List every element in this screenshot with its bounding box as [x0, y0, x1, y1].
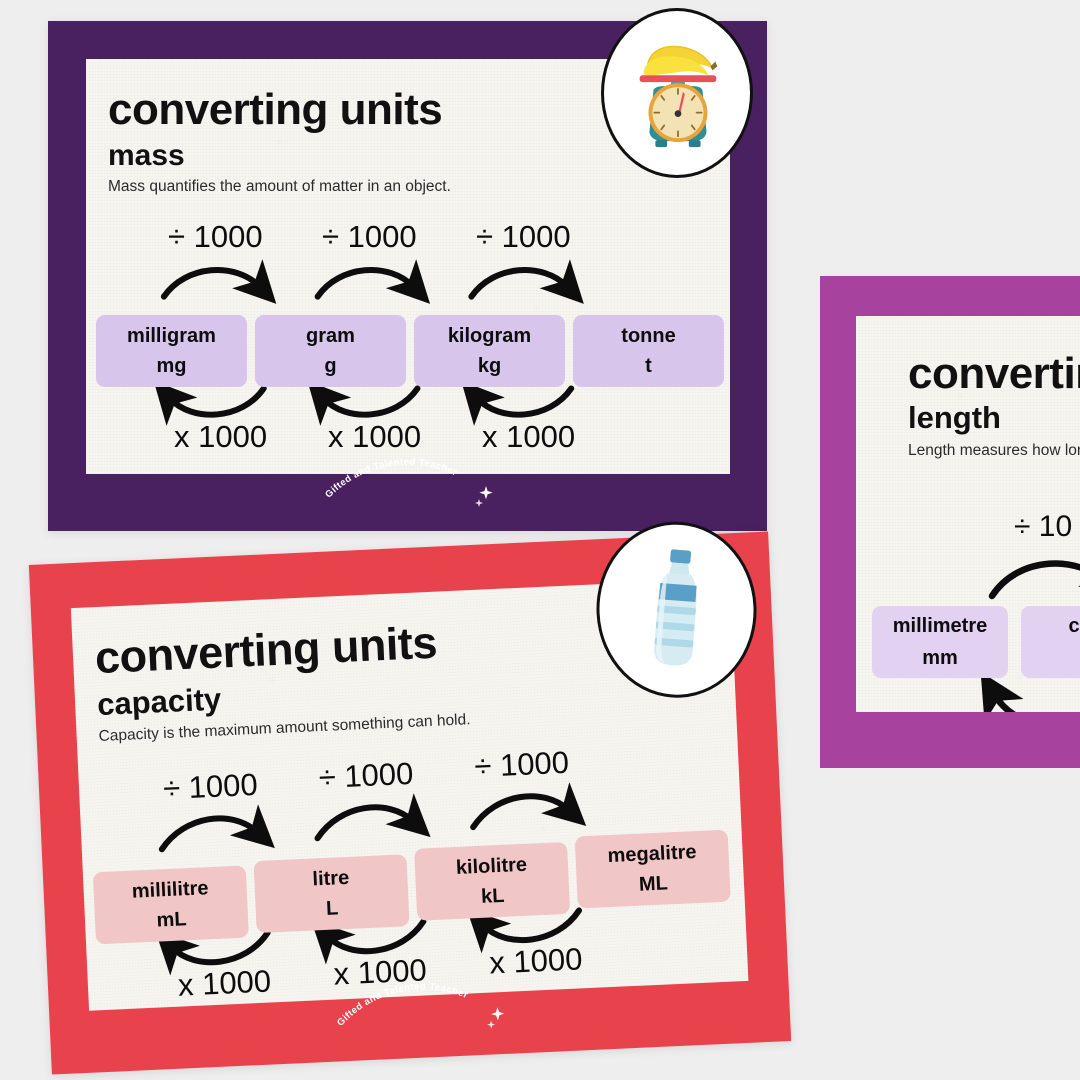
unit-name: tonne: [621, 325, 675, 347]
unit-abbr: mg: [157, 355, 187, 377]
poster-capacity[interactable]: converting units capacity Capacity is th…: [29, 531, 791, 1074]
unit-abbr: kL: [481, 885, 505, 908]
capacity-unit-chip[interactable]: millilitre mL: [93, 866, 249, 945]
unit-name: megalitre: [607, 841, 697, 867]
capacity-multiply-label-1: x 1000: [177, 964, 272, 1004]
unit-abbr: kg: [478, 355, 501, 377]
kitchen-scale-with-bananas-icon: [601, 8, 753, 178]
capacity-units-row: millilitre mL litre L kilolitre kL megal…: [92, 834, 731, 945]
mass-divide-label-1: ÷ 1000: [168, 219, 263, 255]
length-headline: convertin: [908, 352, 1080, 396]
unit-abbr: t: [645, 355, 652, 377]
length-unit-chip[interactable]: cent c: [1021, 606, 1080, 678]
poster-mass[interactable]: converting units mass Mass quantifies th…: [48, 21, 767, 531]
capacity-divide-label-2: ÷ 1000: [318, 756, 414, 796]
mass-multiply-label-2: x 1000: [328, 419, 421, 455]
mass-divide-label-3: ÷ 1000: [476, 219, 571, 255]
unit-name: cent: [1068, 615, 1080, 637]
unit-name: millilitre: [131, 877, 209, 903]
capacity-subhead: capacity: [97, 683, 222, 720]
unit-abbr: mm: [922, 647, 958, 669]
brand-arc-svg: Gifted and Talented Teacher: [308, 476, 508, 516]
unit-name: millimetre: [893, 615, 987, 637]
sparkle-icon: [486, 1007, 505, 1029]
unit-name: milligram: [127, 325, 216, 347]
length-subhead: length: [908, 402, 1001, 433]
unit-name: kilolitre: [455, 853, 527, 879]
capacity-headline: converting units: [94, 620, 438, 680]
unit-name: gram: [306, 325, 355, 347]
unit-abbr: mL: [156, 908, 187, 932]
mass-multiply-label-1: x 1000: [174, 419, 267, 455]
length-description: Length measures how long: [908, 442, 1080, 460]
poster-collection: convertin length Length measures how lon…: [0, 0, 1080, 1080]
mass-unit-chip[interactable]: kilogram kg: [414, 315, 565, 387]
capacity-unit-chip[interactable]: litre L: [253, 854, 409, 933]
mass-subhead: mass: [108, 141, 185, 171]
mass-headline: converting units: [108, 88, 442, 132]
unit-abbr: ML: [638, 872, 668, 896]
poster-length[interactable]: convertin length Length measures how lon…: [820, 276, 1080, 768]
length-unit-chip[interactable]: millimetre mm: [872, 606, 1008, 678]
mass-unit-chip[interactable]: milligram mg: [96, 315, 247, 387]
mass-multiply-label-3: x 1000: [482, 419, 575, 455]
length-card: convertin length Length measures how lon…: [856, 316, 1080, 712]
unit-abbr: L: [326, 897, 339, 920]
scale-svg: [618, 29, 736, 157]
capacity-divide-label-3: ÷ 1000: [474, 745, 570, 785]
capacity-unit-chip[interactable]: megalitre ML: [575, 830, 731, 909]
mass-unit-chip[interactable]: tonne t: [573, 315, 724, 387]
bottle-svg: [614, 541, 740, 678]
length-divide-label-1: ÷ 10: [1014, 510, 1072, 544]
capacity-multiply-label-3: x 1000: [489, 941, 584, 981]
mass-unit-chip[interactable]: gram g: [255, 315, 406, 387]
unit-name: litre: [312, 866, 350, 890]
mass-units-row: milligram mg gram g kilogram kg tonne t: [96, 315, 724, 387]
unit-name: kilogram: [448, 325, 531, 347]
unit-abbr: g: [324, 355, 336, 377]
brand-arc-svg: Gifted and Talented Teacher: [319, 996, 521, 1045]
brand-footer: Gifted and Talented Teacher: [48, 476, 767, 521]
mass-description: Mass quantifies the amount of matter in …: [108, 178, 451, 196]
sparkle-icon: [475, 486, 493, 507]
length-units-row: millimetre mm cent c: [872, 606, 1080, 678]
capacity-divide-label-1: ÷ 1000: [162, 767, 258, 807]
capacity-unit-chip[interactable]: kilolitre kL: [414, 842, 570, 921]
mass-divide-label-2: ÷ 1000: [322, 219, 417, 255]
